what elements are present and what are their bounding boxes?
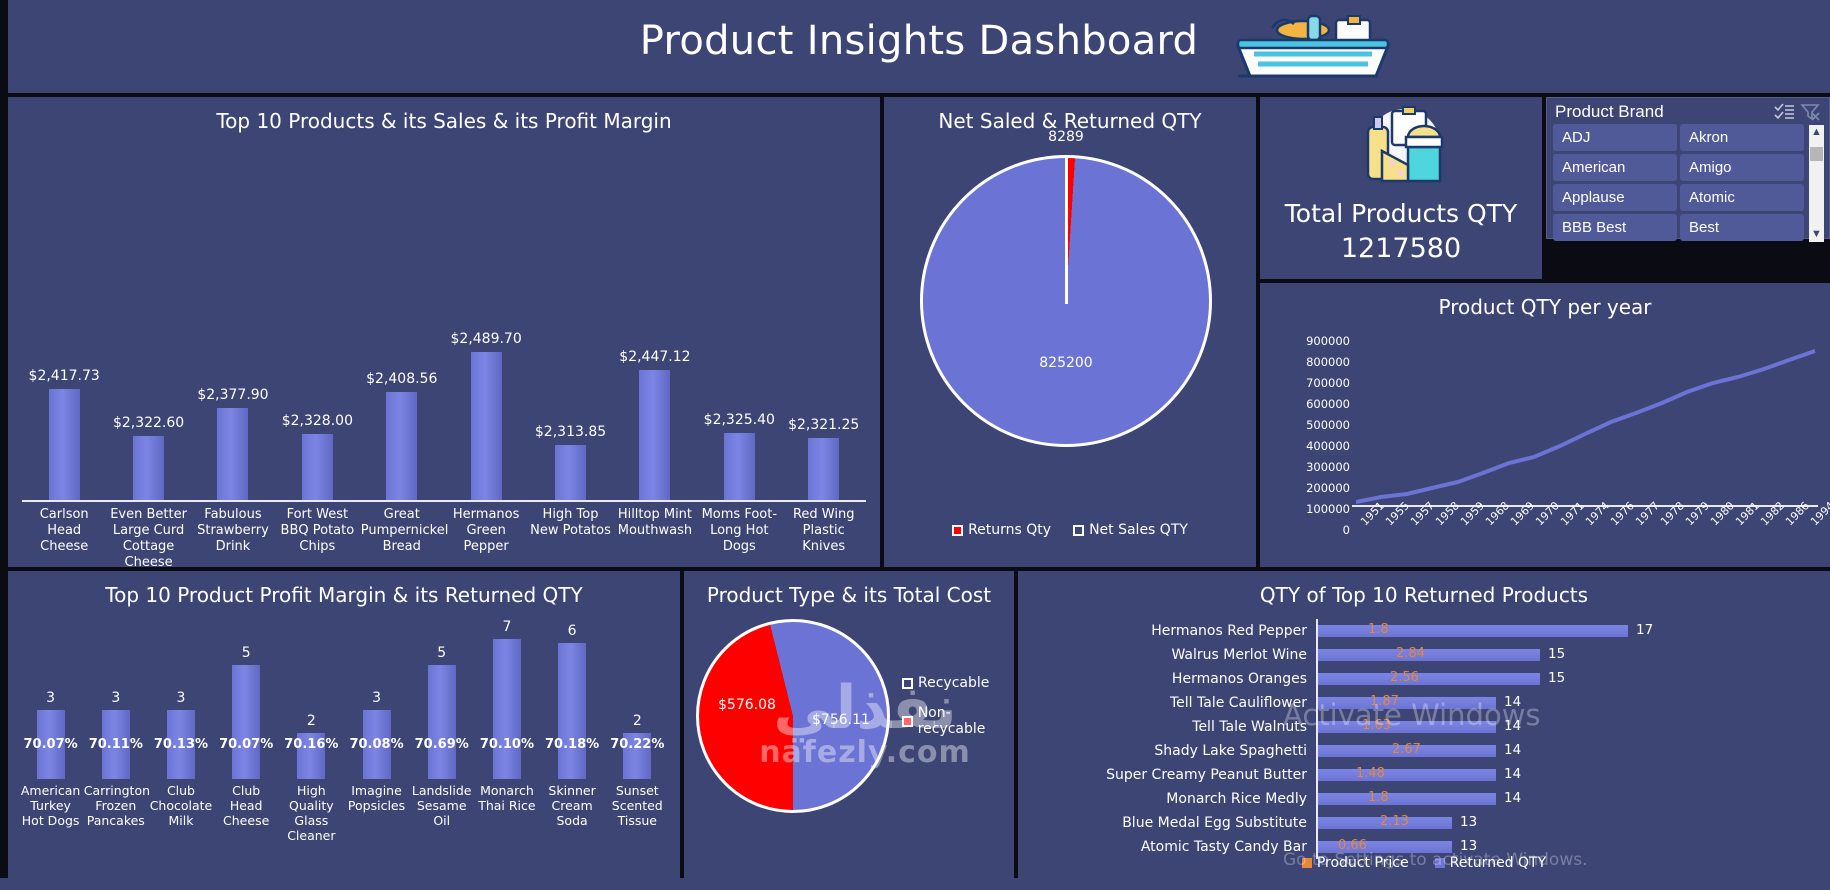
bar-value-label: 3 <box>46 690 55 706</box>
qty-label: 14 <box>1504 742 1521 758</box>
slicer-item[interactable]: Applause <box>1553 184 1677 211</box>
x-axis-labels: American Turkey Hot Dogs Carrington Froz… <box>18 783 670 843</box>
price-label: 1.87 <box>1370 694 1399 709</box>
bar-rect[interactable] <box>558 643 586 779</box>
bar-value-label: $2,377.90 <box>197 387 268 403</box>
y-tick-label: 0 <box>1288 520 1350 541</box>
price-label: 1.48 <box>1356 766 1385 781</box>
y-tick-label: 200000 <box>1288 478 1350 499</box>
bar-item[interactable]: $2,322.60 <box>108 155 190 500</box>
qty-label: 14 <box>1504 694 1521 710</box>
qty-label: 13 <box>1460 838 1477 854</box>
table-row[interactable]: Tell Tale Cauliflower 1.87 14 <box>1026 691 1822 715</box>
bar-item[interactable]: 3 <box>149 619 213 779</box>
legend-label: Product Price <box>1317 855 1409 871</box>
x-axis-line <box>22 500 866 502</box>
bar-rect[interactable] <box>493 639 521 779</box>
kpi-card-total-products-qty: Total Products QTY 1217580 <box>1260 97 1542 279</box>
table-row[interactable]: Shady Lake Spaghetti 2.67 14 <box>1026 739 1822 763</box>
price-label: 0.66 <box>1338 838 1367 853</box>
bar-item[interactable]: $2,408.56 <box>361 155 443 500</box>
qty-label: 17 <box>1636 622 1653 638</box>
chart-title: Top 10 Products & its Sales & its Profit… <box>8 97 880 133</box>
bar-item[interactable]: 2 <box>605 619 669 779</box>
bar-value-label: $2,417.73 <box>29 368 100 384</box>
pie-container: 8289 825200 <box>920 155 1220 455</box>
bar-rect[interactable] <box>217 408 248 500</box>
bar-item[interactable]: $2,321.25 <box>783 155 865 500</box>
slicer-item[interactable]: Amigo <box>1680 154 1804 181</box>
legend-swatch-net-sales <box>1073 525 1084 536</box>
margin-label: 70.08% <box>345 737 409 752</box>
x-tick-label: Carlson Head Cheese <box>23 507 105 571</box>
pie-slice-label-non-recycable: $576.08 <box>718 697 776 713</box>
chevron-down-icon[interactable]: ▼ <box>1809 227 1824 242</box>
x-tick-label: Club Head Cheese <box>214 783 278 843</box>
bar-item[interactable]: $2,447.12 <box>614 155 696 500</box>
table-row[interactable]: Blue Medal Egg Substitute 2.13 13 <box>1026 811 1822 835</box>
qty-label: 15 <box>1548 670 1565 686</box>
x-tick-label: Monarch Thai Rice <box>475 783 539 843</box>
bar-value-label: $2,489.70 <box>451 331 522 347</box>
legend-item-non-recycable[interactable]: Non-recycable <box>902 705 1014 737</box>
y-tick-label: 600000 <box>1288 394 1350 415</box>
bar-item[interactable]: 7 <box>475 619 539 779</box>
slicer-item[interactable]: Akron <box>1680 124 1804 151</box>
dashboard-root: Product Insights Dashboard Top 10 Produc… <box>0 0 1830 890</box>
bar-rect[interactable] <box>428 665 456 779</box>
x-tick-label: Red Wing Plastic Knives <box>783 507 865 571</box>
margin-label: 70.07% <box>19 737 83 752</box>
table-row[interactable]: Hermanos Oranges 2.56 15 <box>1026 667 1822 691</box>
bar-track: 2.67 14 <box>1318 739 1822 763</box>
y-tick-label: 500000 <box>1288 415 1350 436</box>
chevron-up-icon[interactable]: ▲ <box>1809 125 1824 140</box>
bar-rect[interactable] <box>1318 625 1628 637</box>
margin-label: 70.10% <box>475 737 539 752</box>
chart-product-type-total-cost: Product Type & its Total Cost $576.08 $7… <box>684 571 1014 890</box>
chart-legend: Returns Qty Net Sales QTY <box>884 522 1256 538</box>
dairy-products-icon <box>1346 105 1456 197</box>
table-row[interactable]: Monarch Rice Medly 1.8 14 <box>1026 787 1822 811</box>
chart-title: Top 10 Product Profit Margin & its Retur… <box>8 571 680 607</box>
chart-title: Product Type & its Total Cost <box>684 571 1014 607</box>
y-tick-label: Hermanos Oranges <box>1026 671 1316 687</box>
chart-legend: Product Price Returned QTY <box>1018 855 1830 871</box>
bar-item[interactable]: $2,325.40 <box>698 155 780 500</box>
bar-value-label: 3 <box>111 690 120 706</box>
x-tick-label: American Turkey Hot Dogs <box>19 783 83 843</box>
bar-rect[interactable] <box>1318 649 1540 661</box>
bar-item[interactable]: $2,417.73 <box>23 155 105 500</box>
bar-rect[interactable] <box>1318 673 1540 685</box>
y-tick-label: 700000 <box>1288 373 1350 394</box>
line-series[interactable] <box>1356 335 1816 505</box>
slicer-column-right: Akron Amigo Atomic Best <box>1680 124 1807 244</box>
pie-slice-label-recycable: $756.11 <box>812 712 870 728</box>
bar-rect[interactable] <box>302 434 333 500</box>
x-tick-label: Fabulous Strawberry Drink <box>192 507 274 571</box>
bar-track: 1.8 14 <box>1318 787 1822 811</box>
x-tick-label: Hilltop Mint Mouthwash <box>614 507 696 571</box>
margin-label: 70.16% <box>279 737 343 752</box>
x-axis-labels: 1951 1955 1957 1958 1959 1968 1969 1970 … <box>1352 509 1818 565</box>
bar-value-label: 3 <box>372 690 381 706</box>
legend-label: Returned QTY <box>1450 855 1547 871</box>
bar-value-label: 2 <box>307 713 316 729</box>
x-tick-label: Skinner Cream Soda <box>540 783 604 843</box>
y-tick-label: Blue Medal Egg Substitute <box>1026 815 1316 831</box>
chart-title: QTY of Top 10 Returned Products <box>1018 571 1830 607</box>
legend-swatch-returns <box>952 525 963 536</box>
legend-item-recycable[interactable]: Recycable <box>902 675 1014 691</box>
y-tick-label: Tell Tale Walnuts <box>1026 719 1316 735</box>
bar-series: Hermanos Red Pepper 1.8 17 Walrus Merlot… <box>1026 619 1822 859</box>
legend-item-product-price[interactable]: Product Price <box>1302 855 1409 871</box>
chart-returned-products-qty: QTY of Top 10 Returned Products Hermanos… <box>1018 571 1830 890</box>
bar-item[interactable]: 5 <box>410 619 474 779</box>
slicer-column-left: ADJ American Applause BBB Best <box>1553 124 1680 244</box>
qty-label: 14 <box>1504 718 1521 734</box>
x-tick-label: Even Better Large Curd Cottage Cheese <box>108 507 190 571</box>
bar-track: 1.63 14 <box>1318 715 1822 739</box>
slicer-item[interactable]: ADJ <box>1553 124 1677 151</box>
table-row[interactable]: Hermanos Red Pepper 1.8 17 <box>1026 619 1822 643</box>
slicer-item[interactable]: Best <box>1680 214 1804 241</box>
legend-swatch-non-recycable <box>902 716 913 727</box>
x-tick-label: Fort West BBQ Potato Chips <box>276 507 358 571</box>
qty-label: 14 <box>1504 766 1521 782</box>
price-label: 2.56 <box>1390 670 1419 685</box>
bar-item[interactable]: $2,489.70 <box>445 155 527 500</box>
bar-rect[interactable] <box>386 392 417 500</box>
chart-title: Net Saled & Returned QTY <box>884 97 1256 133</box>
bar-value-label: $2,447.12 <box>619 349 690 365</box>
margin-label: 70.22% <box>605 737 669 752</box>
y-axis-labels: 900000 800000 700000 600000 500000 40000… <box>1288 331 1350 541</box>
clear-filter-icon[interactable] <box>1799 102 1821 122</box>
chart-title: Product QTY per year <box>1260 283 1830 319</box>
bar-series: $2,417.73 $2,322.60 $2,377.90 $2,328.00 … <box>22 155 866 500</box>
bar-track: 2.56 15 <box>1318 667 1822 691</box>
bar-item[interactable]: 3 <box>345 619 409 779</box>
x-tick-label: High Quality Glass Cleaner <box>279 783 343 843</box>
price-label: 1.63 <box>1362 718 1391 733</box>
legend-swatch-recycable <box>902 678 913 689</box>
bar-value-label: 7 <box>502 619 511 635</box>
y-tick-label: 900000 <box>1288 331 1350 352</box>
x-tick-label: Great Pumpernickel Bread <box>361 507 443 571</box>
chart-legend: Recycable Non-recycable <box>902 675 1014 751</box>
bar-value-label: 5 <box>437 645 446 661</box>
bar-item[interactable]: 5 <box>214 619 278 779</box>
grocery-basket-icon <box>1208 8 1408 86</box>
bar-value-label: $2,325.40 <box>704 412 775 428</box>
bar-rect[interactable] <box>471 352 502 500</box>
x-tick-label: Moms Foot-Long Hot Dogs <box>698 507 780 571</box>
x-tick-label: High Top New Potatos <box>530 507 612 571</box>
table-row[interactable]: Super Creamy Peanut Butter 1.48 14 <box>1026 763 1822 787</box>
slicer-item[interactable]: BBB Best <box>1553 214 1677 241</box>
bar-value-label: 3 <box>177 690 186 706</box>
kpi-label: Total Products QTY <box>1260 199 1542 228</box>
bar-value-label: 2 <box>633 713 642 729</box>
bar-rect[interactable] <box>133 436 164 500</box>
multi-select-icon[interactable] <box>1773 102 1795 122</box>
scrollbar-thumb[interactable] <box>1810 147 1823 161</box>
bar-item[interactable]: $2,313.85 <box>530 155 612 500</box>
price-label: 2.13 <box>1380 814 1409 829</box>
y-tick-label: Monarch Rice Medly <box>1026 791 1316 807</box>
bar-value-label: 5 <box>242 645 251 661</box>
slicer-header: Product Brand <box>1547 98 1829 122</box>
slicer-scrollbar[interactable]: ▲ ▼ <box>1809 125 1824 242</box>
bar-rect[interactable] <box>1318 721 1496 733</box>
bar-item[interactable]: $2,377.90 <box>192 155 274 500</box>
chart-product-qty-per-year: Product QTY per year 900000 800000 70000… <box>1260 283 1830 567</box>
bar-rect[interactable] <box>724 433 755 500</box>
price-label: 2.67 <box>1392 742 1421 757</box>
legend-item-returns[interactable]: Returns Qty <box>952 522 1051 538</box>
x-axis-labels: Carlson Head Cheese Even Better Large Cu… <box>22 507 866 571</box>
legend-swatch-returned-qty <box>1435 858 1445 868</box>
margin-label: 70.07% <box>214 737 278 752</box>
bar-item[interactable]: 3 <box>84 619 148 779</box>
x-tick-label: Imagine Popsicles <box>345 783 409 843</box>
bar-value-label: $2,321.25 <box>788 417 859 433</box>
y-tick-label: Tell Tale Cauliflower <box>1026 695 1316 711</box>
x-tick-label: Carrington Frozen Pancakes <box>84 783 148 843</box>
slicer-item[interactable]: American <box>1553 154 1677 181</box>
bar-value-label: $2,408.56 <box>366 371 437 387</box>
bar-rect[interactable] <box>1318 769 1496 781</box>
bar-rect[interactable] <box>555 445 586 500</box>
y-tick-label: 800000 <box>1288 352 1350 373</box>
y-tick-label: Super Creamy Peanut Butter <box>1026 767 1316 783</box>
table-row[interactable]: Tell Tale Walnuts 1.63 14 <box>1026 715 1822 739</box>
slicer-product-brand[interactable]: Product Brand ADJ American Applause BBB … <box>1546 97 1830 239</box>
bar-rect[interactable] <box>1318 697 1496 709</box>
page-title: Product Insights Dashboard <box>8 18 1830 64</box>
pie-slice-label-returns: 8289 <box>920 129 1212 145</box>
bar-rect[interactable] <box>232 665 260 779</box>
margin-label: 70.18% <box>540 737 604 752</box>
bar-item[interactable]: 3 <box>19 619 83 779</box>
bar-track: 1.87 14 <box>1318 691 1822 715</box>
dashboard-header: Product Insights Dashboard <box>8 0 1830 93</box>
bar-rect[interactable] <box>1318 793 1496 805</box>
y-tick-label: Hermanos Red Pepper <box>1026 623 1316 639</box>
y-tick-label: Shady Lake Spaghetti <box>1026 743 1316 759</box>
qty-label: 13 <box>1460 814 1477 830</box>
qty-label: 15 <box>1548 646 1565 662</box>
pie-slice-label-net-sales: 825200 <box>920 355 1212 371</box>
pie-slice-divider <box>1065 155 1068 304</box>
price-label: 2.84 <box>1396 646 1425 661</box>
legend-label: Returns Qty <box>968 522 1051 538</box>
bar-value-label: 6 <box>568 623 577 639</box>
y-tick-label: 300000 <box>1288 457 1350 478</box>
pie-container: $576.08 $756.11 <box>696 619 896 819</box>
bar-track: 1.8 17 <box>1318 619 1822 643</box>
bottom-strip <box>0 878 1830 890</box>
bar-track: 1.48 14 <box>1318 763 1822 787</box>
bar-series: 3 3 3 5 2 3 5 <box>18 619 670 779</box>
x-tick-label: Sunset Scented Tissue <box>605 783 669 843</box>
slicer-item[interactable]: Atomic <box>1680 184 1804 211</box>
slicer-items: ADJ American Applause BBB Best Akron Ami… <box>1547 122 1829 244</box>
legend-item-returned-qty[interactable]: Returned QTY <box>1435 855 1547 871</box>
legend-label: Net Sales QTY <box>1089 522 1188 538</box>
bar-rect[interactable] <box>49 389 80 500</box>
chart-net-sales-returns-pie: Net Saled & Returned QTY 8289 825200 Ret… <box>884 97 1256 567</box>
price-label: 1.8 <box>1368 622 1389 637</box>
x-tick-label: Landslide Sesame Oil <box>410 783 474 843</box>
y-tick-label: 400000 <box>1288 436 1350 457</box>
chart-top-products-sales: Top 10 Products & its Sales & its Profit… <box>8 97 880 567</box>
legend-label: Non-recycable <box>918 705 1014 737</box>
chart-profit-margin-returned-qty: Top 10 Product Profit Margin & its Retur… <box>8 571 680 890</box>
margin-label: 70.13% <box>149 737 213 752</box>
x-tick-label: Hermanos Green Pepper <box>445 507 527 571</box>
margin-label: 70.69% <box>410 737 474 752</box>
kpi-value: 1217580 <box>1260 233 1542 264</box>
legend-label: Recycable <box>918 675 989 691</box>
y-tick-label: Walrus Merlot Wine <box>1026 647 1316 663</box>
qty-label: 14 <box>1504 790 1521 806</box>
bar-rect[interactable] <box>639 370 670 500</box>
bar-track: 2.84 15 <box>1318 643 1822 667</box>
bar-rect[interactable] <box>808 438 839 500</box>
legend-swatch-product-price <box>1302 858 1312 868</box>
bar-track: 2.13 13 <box>1318 811 1822 835</box>
bar-item[interactable]: $2,328.00 <box>276 155 358 500</box>
bar-value-label: $2,313.85 <box>535 424 606 440</box>
margin-label: 70.11% <box>84 737 148 752</box>
bar-value-label: $2,322.60 <box>113 415 184 431</box>
bar-value-label: $2,328.00 <box>282 413 353 429</box>
bar-item[interactable]: 2 <box>279 619 343 779</box>
legend-item-net-sales[interactable]: Net Sales QTY <box>1073 522 1188 538</box>
profit-margin-labels: 70.07% 70.11% 70.13% 70.07% 70.16% 70.08… <box>18 737 670 752</box>
y-tick-label: Atomic Tasty Candy Bar <box>1026 839 1316 855</box>
table-row[interactable]: Walrus Merlot Wine 2.84 15 <box>1026 643 1822 667</box>
bar-item[interactable]: 6 <box>540 619 604 779</box>
slicer-title: Product Brand <box>1555 102 1769 122</box>
price-label: 1.8 <box>1368 790 1389 805</box>
x-tick-label: Club Chocolate Milk <box>149 783 213 843</box>
y-tick-label: 100000 <box>1288 499 1350 520</box>
